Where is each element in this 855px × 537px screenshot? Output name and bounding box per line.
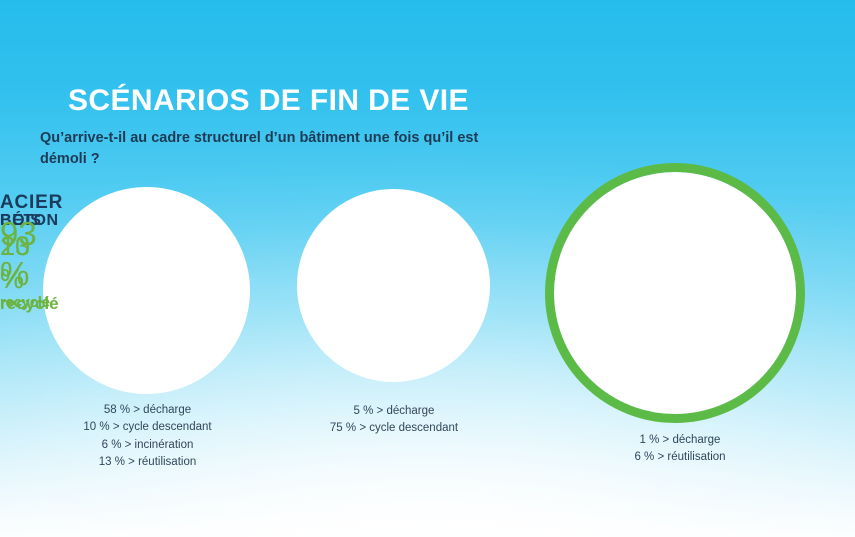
stat-line: 5 % > décharge bbox=[288, 403, 500, 420]
material-circle-beton bbox=[297, 189, 490, 382]
infographic-canvas: SCÉNARIOS DE FIN DE VIE Qu’arrive-t-il a… bbox=[0, 0, 855, 537]
stat-line: 10 % > cycle descendant bbox=[35, 419, 260, 436]
page-title: SCÉNARIOS DE FIN DE VIE bbox=[68, 84, 469, 118]
stat-line: 75 % > cycle descendant bbox=[288, 420, 500, 437]
stat-line: 58 % > décharge bbox=[35, 402, 260, 419]
stat-line: 6 % > incinération bbox=[35, 437, 260, 454]
material-circle-acier-highlighted bbox=[545, 163, 805, 423]
material-stats-beton: 5 % > décharge 75 % > cycle descendant bbox=[288, 403, 500, 438]
stat-line: 6 % > réutilisation bbox=[585, 449, 775, 466]
material-stats-acier: 1 % > décharge 6 % > réutilisation bbox=[585, 432, 775, 467]
stat-line: 1 % > décharge bbox=[585, 432, 775, 449]
material-stats-bois: 58 % > décharge 10 % > cycle descendant … bbox=[35, 402, 260, 472]
stat-line: 13 % > réutilisation bbox=[35, 454, 260, 471]
page-subtitle: Qu’arrive-t-il au cadre structurel d’un … bbox=[40, 128, 510, 169]
material-circle-bois bbox=[43, 187, 250, 394]
